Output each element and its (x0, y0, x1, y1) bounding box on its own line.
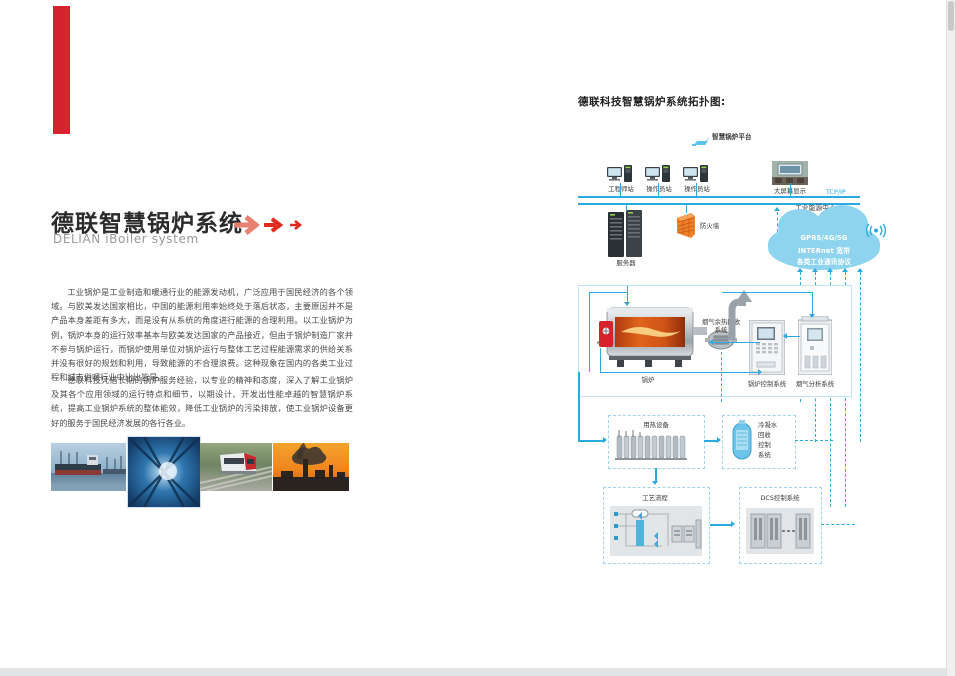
boiler-top-feed (589, 292, 628, 293)
glass-building-photo (127, 436, 201, 508)
boiler-return-arrow (758, 369, 762, 375)
boiler-control-cabinet-icon[interactable] (749, 320, 785, 379)
cloud-uplink-arrow (774, 207, 780, 211)
arrow-icon-2 (264, 219, 280, 231)
boiler-return-riser (600, 348, 601, 372)
cloud-uplink-dotted (777, 212, 778, 232)
condensate-tank-icon (730, 420, 754, 466)
intro-paragraph-2: 德联科技凭借长期的锅炉服务经验，以专业的精神和态度，深入了解工业锅炉及其各个应用… (51, 373, 353, 430)
heat-equipment-arrow (603, 437, 607, 443)
boiler-illustration (597, 300, 707, 376)
arrow-icon-1 (234, 217, 256, 233)
field-uplink-5 (860, 272, 861, 442)
flue-analysis-label: 烟气分析系统 (790, 380, 840, 388)
operator-station-2-label: 操作员站 (681, 185, 713, 193)
server-uplink (626, 203, 627, 211)
operator-station-1-icon[interactable] (645, 165, 673, 187)
heat-equipment-label: 用热设备 (638, 421, 674, 429)
heat-to-process (655, 468, 657, 482)
heat-to-condensate (704, 440, 718, 442)
process-to-dcs (710, 524, 732, 526)
boiler-control-label: 锅炉控制系统 (742, 380, 792, 388)
cloud-line-3: 各类工业通讯协议 (768, 256, 880, 266)
vertical-scrollbar[interactable] (946, 0, 955, 676)
page-canvas: 德联智慧锅炉系统 DELIAN iBoiler system 工业锅炉是工业制造… (0, 0, 947, 668)
recovery-dotted-down (721, 352, 722, 402)
boiler-to-heat-equipment (578, 440, 604, 442)
operator-2-drop (696, 183, 697, 197)
boiler-feed-arrow (624, 302, 630, 306)
process-flow-label: 工艺流程 (637, 494, 673, 502)
field-uplink-arrow-1 (797, 268, 803, 272)
field-uplink-arrow-5 (857, 268, 863, 272)
condensate-label-line2: 回收 (758, 431, 771, 439)
operator-station-2-icon[interactable] (683, 165, 711, 187)
analysis-to-control-arrow (783, 333, 787, 339)
boiler-left-riser (589, 292, 590, 372)
boiler-bottom-return (600, 372, 760, 373)
arrow-icon-3 (290, 221, 300, 229)
operator-station-1-label: 操作员站 (643, 185, 675, 193)
boiler-label: 锅炉 (633, 376, 663, 384)
cloud-line-1: GPRS/4G/5G (768, 234, 880, 242)
firewall-uplink (686, 203, 687, 213)
power-plant-photo (273, 443, 349, 491)
diagram-title: 德联科技智慧锅炉系统拓扑图: (578, 94, 726, 109)
tcpip-label: TCP/IP (826, 188, 846, 196)
condensate-label-line4: 系统 (758, 451, 771, 459)
high-speed-train-photo (200, 443, 272, 491)
brand-accent-bar (53, 6, 70, 134)
cloud-line-2: INTERnet 宽带 (768, 245, 880, 255)
platform-icon (692, 132, 710, 151)
page-subtitle: DELIAN iBoiler system (53, 232, 199, 246)
analysis-drop (812, 292, 813, 316)
condensate-arrow (717, 437, 721, 443)
boiler-left-down (578, 372, 580, 441)
field-uplink-arrow-4 (842, 268, 848, 272)
server-icon[interactable] (608, 210, 644, 262)
port-ship-photo (51, 443, 126, 491)
heat-equipment-illustration (613, 430, 697, 466)
condensate-dotted-right (795, 440, 833, 441)
control-feed-arrow (709, 339, 713, 345)
field-uplink-arrow-2 (812, 268, 818, 272)
control-network-bus (578, 196, 860, 198)
big-screen-drop (790, 183, 791, 197)
dcs-illustration (746, 508, 814, 558)
analysis-top-feed (722, 292, 812, 293)
process-arrow (652, 481, 658, 485)
dcs-label: DCS控制系统 (758, 494, 802, 502)
condensate-label-line3: 控制 (758, 441, 771, 449)
arrow-decoration (232, 212, 312, 238)
analysis-drop-arrow (809, 314, 815, 318)
firewall-icon[interactable] (675, 212, 697, 244)
condensate-label-line1: 冷凝水 (758, 421, 777, 429)
flue-analysis-cabinet-icon[interactable] (798, 316, 832, 379)
field-uplink-arrow-3 (827, 268, 833, 272)
firewall-label: 防火墙 (700, 222, 719, 230)
process-flow-illustration (610, 506, 702, 560)
operator-1-drop (658, 183, 659, 197)
engineer-station-icon[interactable] (607, 165, 635, 187)
scrollbar-thumb[interactable] (948, 1, 954, 31)
boiler-control-feed (712, 342, 760, 343)
platform-label: 智慧锅炉平台 (712, 133, 752, 141)
analysis-to-control (786, 336, 800, 337)
dcs-dotted-right (821, 524, 855, 525)
server-label: 服务器 (610, 259, 642, 267)
dcs-arrow (731, 521, 735, 527)
engineer-station-label: 工程师站 (605, 185, 637, 193)
engineer-station-drop (620, 183, 621, 197)
exhaust-stack-icon (722, 288, 752, 344)
intro-paragraph-1: 工业锅炉是工业制造和暖通行业的能源发动机，广泛应用于国民经济的各个领域。与欧美发… (51, 285, 353, 384)
